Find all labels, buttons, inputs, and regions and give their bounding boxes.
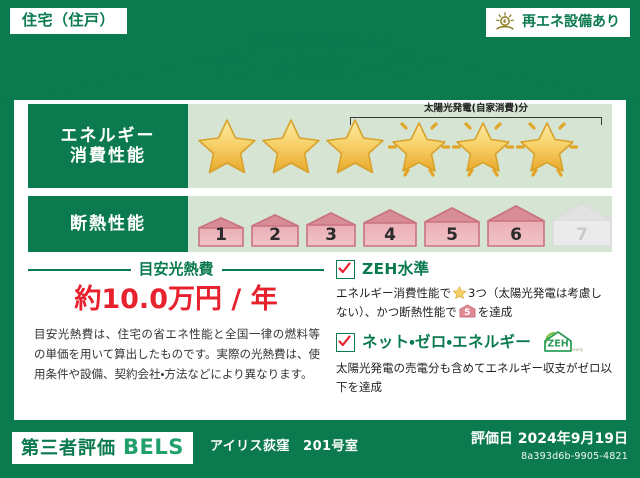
insulation-performance-label: 断熱性能	[28, 196, 188, 252]
inline-star-icon	[452, 285, 467, 300]
bels-en-text: BELS	[123, 437, 184, 458]
bracket-line	[350, 117, 602, 125]
level-number: 7	[550, 227, 614, 244]
energy-performance-label: エネルギー 消費性能	[28, 104, 188, 188]
label-subtitle: 建築物省エネ法に基づく	[0, 36, 640, 48]
heading-rule-right	[222, 269, 325, 271]
renewable-badge-label: 再エネ設備あり	[522, 15, 620, 29]
insulation-level-scale: 1 2 3	[188, 196, 612, 252]
zeh-desc-part2: を達成	[478, 305, 513, 319]
net-zero-desc: 太陽光発電の売電分も含めてエネルギー収支がゼロ以下を達成	[336, 359, 612, 396]
building-name: アイリス荻窪 201号室	[210, 440, 358, 453]
zeh-logo: ZEH nearly	[541, 330, 583, 354]
checkbox-checked-icon	[336, 333, 355, 352]
net-zero-head: ネット・ゼロ・エネルギー ZEH nearly	[336, 330, 612, 354]
energy-performance-row: エネルギー 消費性能 太陽光発電(自家消費)分	[28, 104, 612, 188]
zeh-standard-item: ZEH水準 エネルギー消費性能で3つ（太陽光発電は考慮しない）、かつ断熱性能で5…	[336, 260, 612, 321]
solar-sun-icon	[494, 12, 516, 32]
utility-cost-note: 目安光熱費は、住宅の省エネ性能と全国一律の燃料等の単価を用いて算出したものです。…	[28, 325, 324, 384]
level-number: 5	[422, 227, 482, 244]
level-number: 3	[304, 227, 358, 244]
solar-generation-bracket: 太陽光発電(自家消費)分	[348, 105, 604, 129]
zeh-standard-desc: エネルギー消費性能で3つ（太陽光発電は考慮しない）、かつ断熱性能で5を達成	[336, 284, 612, 321]
label-title: 省エネ性能ラベル	[0, 55, 640, 80]
insulation-levels-area: 1 2 3	[188, 196, 612, 252]
renewable-equipment-badge: 再エネ設備あり	[486, 8, 630, 37]
utility-cost-heading-text: 目安光熱費	[139, 262, 214, 277]
building-type-badge: 住宅（住戸）	[10, 8, 127, 34]
label-footer: 第三者評価 BELS アイリス荻窪 201号室 評価日 2024年9月19日 8…	[0, 420, 640, 478]
level-number: 1	[196, 227, 246, 244]
svg-text:ZEH: ZEH	[547, 339, 568, 350]
utility-cost-heading: 目安光熱費	[28, 262, 324, 277]
utility-cost-value: 約10.0万円 / 年	[28, 286, 324, 313]
insulation-level-7: 7	[550, 202, 614, 248]
star-icon	[194, 114, 260, 178]
energy-label-line1: エネルギー	[61, 126, 156, 146]
insulation-level-5: 5	[422, 206, 482, 248]
net-zero-title: ネット・ゼロ・エネルギー	[362, 335, 531, 351]
heading-rule-left	[28, 269, 131, 271]
net-zero-energy-item: ネット・ゼロ・エネルギー ZEH nearly 太陽光発電の売電分も含めてエネル…	[336, 330, 612, 396]
lower-section: 目安光熱費 約10.0万円 / 年 目安光熱費は、住宅の省エネ性能と全国一律の燃…	[28, 260, 612, 412]
bels-jp-text: 第三者評価	[21, 440, 116, 458]
bels-certification-badge: 第三者評価 BELS	[12, 432, 193, 464]
insulation-level-4: 4	[361, 208, 419, 248]
label-title-block: 建築物省エネ法に基づく 省エネ性能ラベル	[0, 36, 640, 80]
inline-level-badge: 5	[459, 304, 476, 318]
zeh-standard-head: ZEH水準	[336, 260, 612, 279]
evaluation-id: 8a393d6b-9905-4821	[521, 452, 628, 462]
label-body-card: エネルギー 消費性能 太陽光発電(自家消費)分	[14, 100, 626, 420]
level-number: 6	[485, 227, 547, 244]
level-number: 2	[249, 227, 301, 244]
zeh-standard-title: ZEH水準	[362, 262, 429, 278]
energy-label-line2: 消費性能	[70, 146, 146, 166]
svg-text:nearly: nearly	[571, 347, 583, 352]
utility-cost-column: 目安光熱費 約10.0万円 / 年 目安光熱費は、住宅の省エネ性能と全国一律の燃…	[28, 260, 324, 412]
checkbox-checked-icon	[336, 260, 355, 279]
insulation-level-2: 2	[249, 213, 301, 248]
star-icon	[258, 114, 324, 178]
inline-level-number: 5	[459, 309, 476, 318]
insulation-level-6: 6	[485, 204, 547, 248]
zeh-desc-part1: エネルギー消費性能で	[336, 286, 451, 300]
insulation-performance-row: 断熱性能 1	[28, 196, 612, 252]
level-number: 4	[361, 227, 419, 244]
insulation-label-text: 断熱性能	[70, 214, 146, 234]
solar-bracket-label: 太陽光発電(自家消費)分	[348, 104, 604, 114]
energy-performance-label: 住宅（住戸） 再エネ設備あり 建築物省エネ法に基づく 省エネ性能ラベル	[0, 0, 640, 478]
energy-stars-area: 太陽光発電(自家消費)分	[188, 104, 612, 188]
insulation-level-1: 1	[196, 216, 246, 248]
evaluation-date: 評価日 2024年9月19日	[471, 432, 628, 446]
insulation-level-3: 3	[304, 211, 358, 248]
zeh-column: ZEH水準 エネルギー消費性能で3つ（太陽光発電は考慮しない）、かつ断熱性能で5…	[324, 260, 612, 412]
